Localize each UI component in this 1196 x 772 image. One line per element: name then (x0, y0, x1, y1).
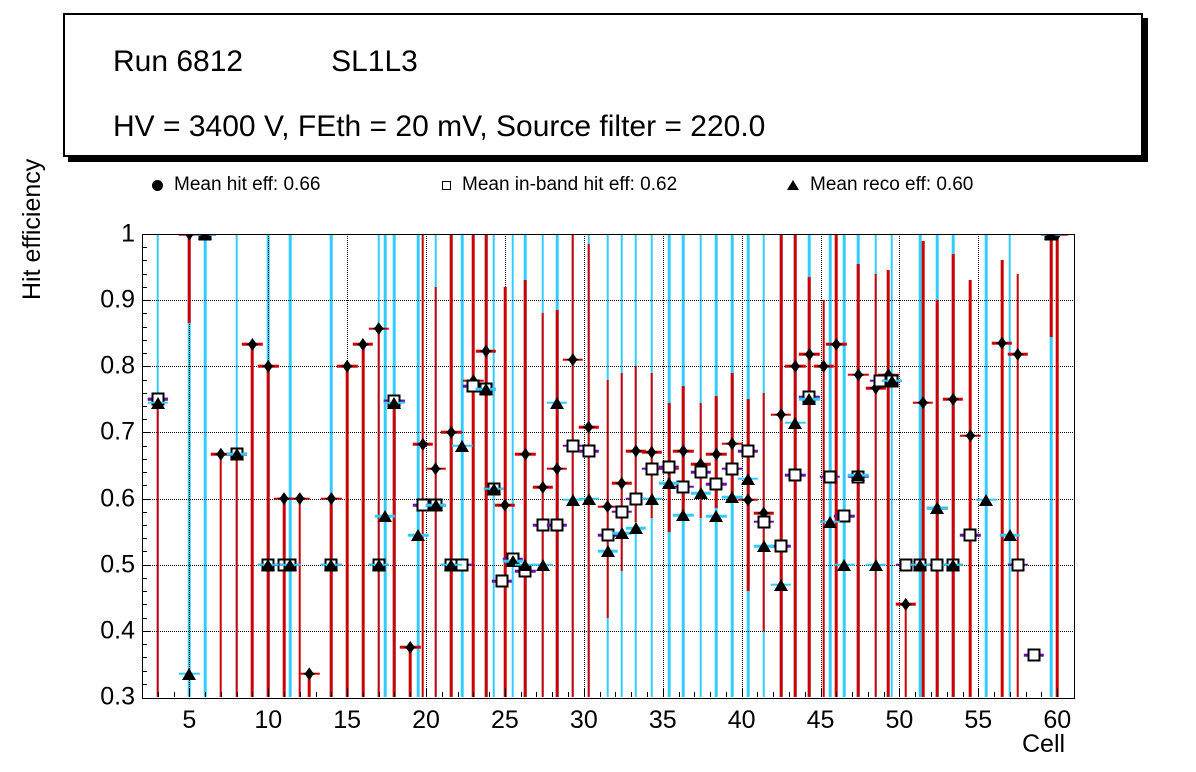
x-tick-label: 30 (570, 706, 598, 735)
title-line-2: HV = 3400 V, FEth = 20 mV, Source filter… (113, 110, 765, 144)
legend-marker-filled-circle-icon (152, 180, 163, 191)
y-tick-labels: 0.30.40.50.60.70.80.91 (15, 0, 135, 772)
legend-label: Mean in-band hit eff: 0.62 (462, 174, 677, 196)
title-box: Run 6812SL1L3 HV = 3400 V, FEth = 20 mV,… (63, 13, 1143, 157)
legend-label: Mean reco eff: 0.60 (810, 174, 973, 196)
legend-label: Mean hit eff: 0.66 (174, 174, 320, 196)
y-tick-label: 0.3 (25, 683, 135, 712)
x-tick-label: 10 (254, 706, 282, 735)
legend-entry: Mean hit eff: 0.66 (152, 170, 320, 200)
y-tick-label: 0.9 (25, 286, 135, 315)
x-tick-label: 50 (886, 706, 914, 735)
y-tick-label: 0.5 (25, 550, 135, 579)
x-tick-label: 5 (182, 706, 196, 735)
legend-entry: Mean in-band hit eff: 0.62 (442, 170, 677, 200)
x-tick-label: 45 (807, 706, 835, 735)
y-tick-label: 0.7 (25, 418, 135, 447)
x-tick-label: 35 (649, 706, 677, 735)
y-tick-label: 0.8 (25, 352, 135, 381)
plot-frame (142, 234, 1075, 699)
x-tick-label: 20 (412, 706, 440, 735)
x-tick-label: 15 (333, 706, 361, 735)
legend-marker-open-square-icon (442, 181, 451, 190)
legend-entry: Mean reco eff: 0.60 (787, 170, 973, 200)
legend: Mean hit eff: 0.66Mean in-band hit eff: … (142, 170, 1073, 230)
x-tick-label: 55 (964, 706, 992, 735)
x-tick-label: 40 (728, 706, 756, 735)
y-tick-label: 0.4 (25, 616, 135, 645)
y-tick-label: 0.6 (25, 484, 135, 513)
y-tick-label: 1 (25, 220, 135, 249)
x-tick-label: 25 (491, 706, 519, 735)
x-tick-label: 60 (1043, 706, 1071, 735)
superlayer-label: SL1L3 (331, 45, 418, 78)
plot-page: Run 6812SL1L3 HV = 3400 V, FEth = 20 mV,… (0, 0, 1196, 772)
legend-marker-filled-triangle-icon (787, 180, 799, 190)
title-line-1: Run 6812SL1L3 (113, 45, 418, 79)
